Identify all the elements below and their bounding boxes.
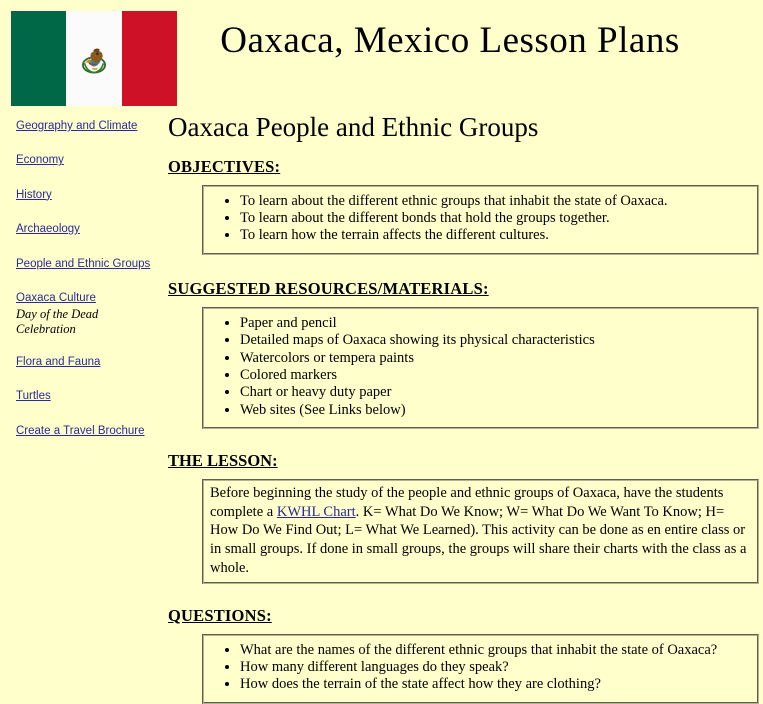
eagle-emblem-icon: [77, 42, 111, 76]
list-item: How does the terrain of the state affect…: [240, 676, 749, 692]
objectives-heading: OBJECTIVES:: [168, 157, 759, 177]
page-title: Oaxaca People and Ethnic Groups: [168, 113, 759, 143]
sidebar-item-geography-and-climate[interactable]: Geography and Climate: [16, 116, 160, 134]
sidebar-item-flora-and-fauna[interactable]: Flora and Fauna: [16, 352, 160, 370]
list-item: Watercolors or tempera paints: [240, 350, 749, 366]
resources-list: Paper and pencil Detailed maps of Oaxaca…: [212, 315, 749, 418]
flag-band-red: [122, 11, 177, 106]
page-body: Geography and Climate Economy History Ar…: [0, 108, 763, 704]
sidebar-item-history[interactable]: History: [16, 185, 160, 203]
sidebar-link-label[interactable]: Turtles: [16, 390, 51, 403]
list-item: To learn about the different ethnic grou…: [240, 193, 749, 209]
list-item: Colored markers: [240, 367, 749, 383]
objectives-panel: To learn about the different ethnic grou…: [202, 185, 759, 255]
sidebar-link-label[interactable]: Archaeology: [16, 223, 80, 236]
resources-panel: Paper and pencil Detailed maps of Oaxaca…: [202, 307, 759, 429]
flag-band-white: [66, 11, 121, 106]
sidebar-link-label[interactable]: History: [16, 189, 52, 202]
list-item: Detailed maps of Oaxaca showing its phys…: [240, 332, 749, 348]
list-item: Web sites (See Links below): [240, 402, 749, 418]
list-item: To learn about the different bonds that …: [240, 210, 749, 226]
kwhl-chart-link[interactable]: KWHL Chart: [277, 504, 356, 520]
flag-band-green: [11, 11, 66, 106]
list-item: What are the names of the different ethn…: [240, 642, 749, 658]
sidebar-item-oaxaca-culture[interactable]: Oaxaca Culture Day of the Dead Celebrati…: [16, 288, 160, 336]
sidebar-link-label[interactable]: Flora and Fauna: [16, 356, 100, 369]
sidebar-item-people-and-ethnic-groups[interactable]: People and Ethnic Groups: [16, 254, 160, 272]
sidebar-link-label[interactable]: Geography and Climate: [16, 120, 137, 133]
resources-heading: SUGGESTED RESOURCES/MATERIALS:: [168, 279, 759, 299]
questions-panel: What are the names of the different ethn…: [202, 634, 759, 704]
sidebar-nav: Geography and Climate Economy History Ar…: [0, 108, 160, 455]
list-item: Chart or heavy duty paper: [240, 384, 749, 400]
list-item: To learn how the terrain affects the dif…: [240, 227, 749, 243]
sidebar-link-label[interactable]: Economy: [16, 154, 64, 167]
sidebar-item-create-a-travel-brochure[interactable]: Create a Travel Brochure: [16, 421, 160, 439]
page-header: Oaxaca, Mexico Lesson Plans: [0, 0, 763, 108]
sidebar-item-turtles[interactable]: Turtles: [16, 386, 160, 404]
sidebar-item-archaeology[interactable]: Archaeology: [16, 219, 160, 237]
list-item: How many different languages do they spe…: [240, 659, 749, 675]
sidebar-link-label[interactable]: People and Ethnic Groups: [16, 258, 150, 271]
lesson-heading: THE LESSON:: [168, 451, 759, 471]
sidebar-item-economy[interactable]: Economy: [16, 150, 160, 168]
site-title: Oaxaca, Mexico Lesson Plans: [177, 0, 763, 59]
objectives-list: To learn about the different ethnic grou…: [212, 193, 749, 244]
list-item: Paper and pencil: [240, 315, 749, 331]
questions-list: What are the names of the different ethn…: [212, 642, 749, 693]
lesson-paragraph: Before beginning the study of the people…: [210, 484, 751, 578]
mexican-flag-icon: [11, 11, 177, 106]
questions-heading: QUESTIONS:: [168, 606, 759, 626]
lesson-panel: Before beginning the study of the people…: [202, 479, 759, 584]
sidebar-link-label[interactable]: Oaxaca Culture: [16, 292, 96, 305]
main-content: Oaxaca People and Ethnic Groups OBJECTIV…: [160, 108, 763, 704]
sidebar-sublabel-day-of-the-dead: Day of the Dead Celebration: [16, 307, 160, 336]
sidebar-link-label[interactable]: Create a Travel Brochure: [16, 425, 144, 438]
